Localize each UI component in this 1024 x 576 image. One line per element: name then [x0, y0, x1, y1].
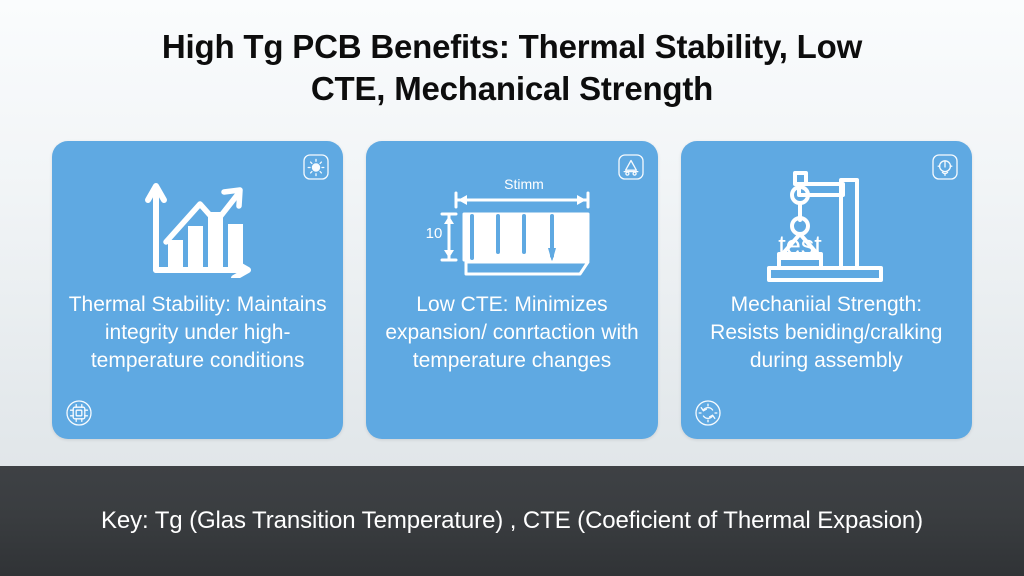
refresh-sync-icon	[693, 398, 723, 428]
bar-chart-growth-icon	[140, 167, 256, 285]
benefit-card-mechanical-strength[interactable]: test Mechaniial Strength: Resists benidi…	[681, 141, 972, 439]
processor-chip-icon	[64, 398, 94, 428]
triangle-cart-icon	[616, 152, 646, 182]
benefit-card-text: Thermal Stability: Maintains integrity u…	[52, 291, 343, 375]
footer-bar: Key: Tg (Glas Transition Temperature) , …	[0, 466, 1024, 576]
dimension-height-label: 10	[426, 225, 443, 242]
dimension-measure-icon: Stimm 10	[420, 167, 604, 285]
page-title: High Tg PCB Benefits: Thermal Stability,…	[60, 26, 964, 109]
footer-key-text: Key: Tg (Glas Transition Temperature) , …	[101, 507, 923, 535]
benefit-card-text: Low CTE: Minimizes expansion/ conrtactio…	[366, 291, 657, 375]
benefit-card-text: Mechaniial Strength: Resists beniding/cr…	[681, 291, 972, 375]
test-stand-apparatus-icon: test	[765, 167, 887, 285]
test-stand-label: test	[779, 230, 823, 260]
benefit-cards-row: Thermal Stability: Maintains integrity u…	[52, 141, 972, 439]
benefit-card-thermal-stability[interactable]: Thermal Stability: Maintains integrity u…	[52, 141, 343, 439]
power-circle-icon	[930, 152, 960, 182]
title-block: High Tg PCB Benefits: Thermal Stability,…	[60, 26, 964, 109]
page-title-line-1: High Tg PCB Benefits: Thermal Stability,…	[162, 28, 862, 65]
sun-brightness-icon	[301, 152, 331, 182]
dimension-width-label: Stimm	[504, 176, 544, 192]
page-title-line-2: CTE, Mechanical Strength	[311, 70, 713, 107]
benefit-card-low-cte[interactable]: Stimm 10	[366, 141, 657, 439]
